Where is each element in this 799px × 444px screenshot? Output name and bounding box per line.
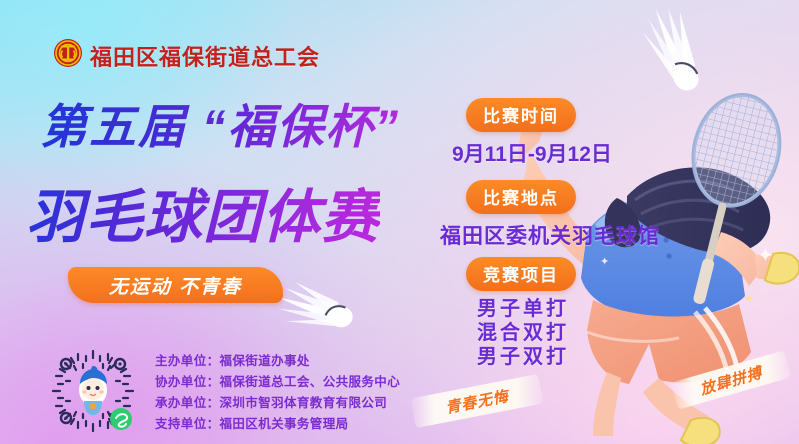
poster-title-line-2: 羽毛球团体赛 (26, 170, 380, 254)
sparkle-icon: ✦ (757, 243, 774, 268)
event-item: 男子双打 (477, 340, 569, 369)
organizer-line: 主办单位：福保街道办事处 (155, 350, 310, 369)
poster-title-line-1: 第五届 “福保杯” (40, 88, 400, 157)
slogan-ribbon: 无运动 不青春 (68, 267, 283, 303)
sparkle-icon: ✦ (600, 255, 609, 268)
label-match-time: 比赛时间 (466, 98, 576, 132)
slogan-text: 无运动 不青春 (109, 272, 242, 299)
sparkle-icon: ✦ (744, 292, 754, 306)
poster-canvas: ✦ ✦ ✦ 福田区福保街道总工会 第五届 “福保杯” 羽毛球团体赛 无运动 不青… (0, 0, 799, 444)
label-competition-events: 竞赛项目 (466, 257, 576, 291)
wechat-miniprogram-qr-icon[interactable] (50, 348, 136, 434)
value-match-place: 福田区委机关羽毛球馆 (440, 220, 660, 250)
union-emblem-icon (53, 38, 83, 68)
organizer-header-title: 福田区福保街道总工会 (90, 40, 320, 72)
label-match-place: 比赛地点 (466, 180, 576, 214)
value-match-time: 9月11日-9月12日 (452, 138, 612, 168)
organizer-line: 支持单位：福田区机关事务管理局 (155, 413, 349, 432)
organizer-line: 协办单位：福保街道总工会、公共服务中心 (155, 371, 400, 390)
organizer-line: 承办单位：深圳市智羽体育教育有限公司 (155, 392, 387, 411)
